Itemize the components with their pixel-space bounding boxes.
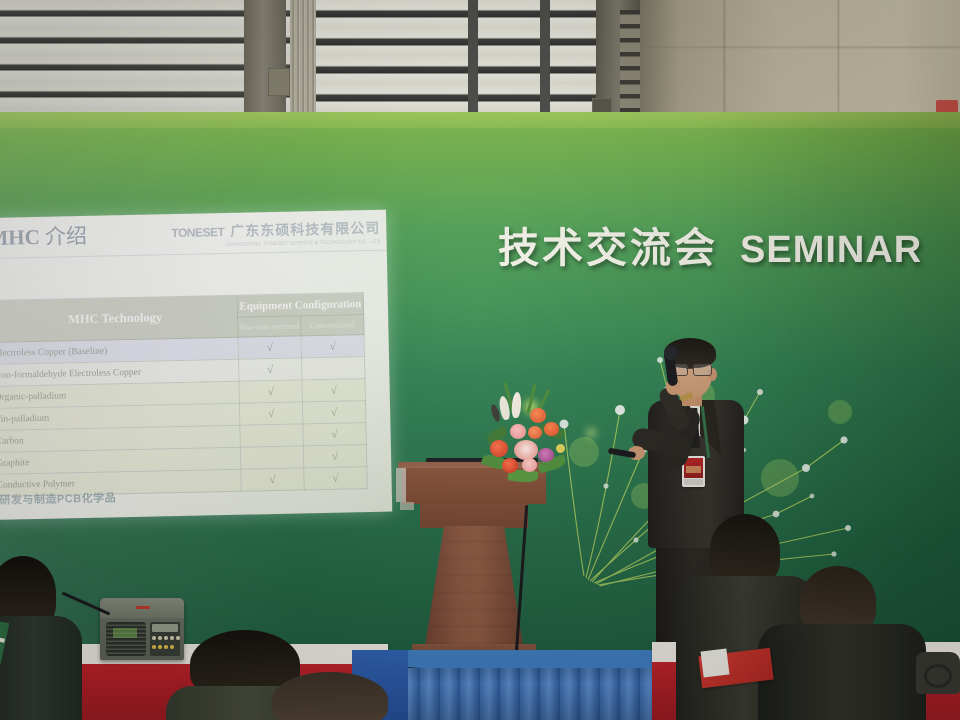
attendee-jacket [0,616,82,720]
wall-mullion [468,0,478,128]
slide-title-cn: 介绍 [45,224,87,249]
orange-rose [530,408,546,423]
projector-button [164,636,168,640]
banner-title-en: SEMINAR [740,229,922,272]
mhc-technology-table: MHC Technology Equipment Configuration N… [0,292,368,497]
cell-non-conveyorized [240,424,303,447]
yellow-accent [556,444,565,453]
podium-side-shelf [400,502,414,510]
pink-carnation [522,458,537,472]
projector-button [164,645,168,649]
cell-non-conveyorized: √ [239,358,302,381]
projector-brand-mark [136,606,150,609]
cell-non-conveyorized [240,446,303,469]
cell-conveyorized: √ [303,423,366,446]
cell-non-conveyorized: √ [238,336,301,359]
vent-slots [620,10,642,120]
wall-box-fixture [268,68,290,96]
projector [100,598,184,660]
projector-vent-grille [106,622,146,656]
attendee-hair [272,672,388,720]
attendee-jacket [758,624,926,720]
logo-wordmark: TONESET [171,225,224,240]
exhibition-hall-ceiling [0,0,960,128]
floral-arrangement [478,382,578,486]
projector-button [170,636,174,640]
cell-conveyorized: √ [301,335,364,358]
projector-button [152,645,156,649]
structural-column [244,0,286,128]
attendee-center-front [272,672,392,720]
slide-title-en: MHC [0,225,40,250]
col-header-non-conveyorized: Non-conveyorized [238,316,301,337]
projector-port [152,624,178,632]
slide-footer: 业研发与制造PCB化学品 [0,489,116,508]
cell-non-conveyorized: √ [241,468,304,491]
purple-orchid [538,448,554,462]
badge-name-strip [684,479,703,485]
projected-slide: MHC 介绍 TONESET 广东东硕科技有限公司 GUANGDONG TONE… [0,210,392,520]
col-header-equipment-configuration: Equipment Configuration [237,293,363,318]
orange-rose [528,426,542,439]
cell-conveyorized: √ [302,401,365,424]
col-header-conveyorized: Conveyorized [301,315,364,336]
beige-panel-wall [640,0,960,128]
red-gerbera [490,440,508,457]
podium-side-panel [396,468,406,502]
pink-carnation [510,424,526,439]
seminar-photo: MHC 介绍 TONESET 广东东硕科技有限公司 GUANGDONG TONE… [0,0,960,720]
cell-conveyorized: √ [302,379,365,402]
red-gerbera [502,458,518,473]
wall-mullion [540,0,550,128]
white-lily-bud [511,392,522,419]
cell-conveyorized: √ [303,445,366,468]
microphone-head [664,346,678,360]
slide-header: MHC 介绍 TONESET 广东东硕科技有限公司 GUANGDONG TONE… [0,212,387,254]
orange-rose [544,422,559,436]
projector-button [158,645,162,649]
cell-conveyorized: √ [304,467,367,490]
projector-button [170,645,174,649]
folder-papers [701,649,730,678]
projector-button [158,636,162,640]
badge-artwork [684,458,703,478]
slide-title: MHC 介绍 [0,220,87,252]
bag-strap [924,664,952,688]
pink-lily [514,440,538,460]
pipe-cluster [290,0,316,128]
col-header-mhc-technology: MHC Technology [0,295,238,342]
logo-company-cn: 广东东硕科技有限公司 [230,218,380,241]
lens-right [693,364,712,376]
company-logo: TONESET 广东东硕科技有限公司 GUANGDONG TONESET SCI… [171,218,380,249]
banner-title-cn: 技术交流会 [498,214,718,274]
bokeh-light [586,428,596,438]
cell-conveyorized [301,357,364,380]
podium-neck [420,504,528,528]
attendee-left-front [0,556,100,720]
banner-seminar-title: 技术交流会 SEMINAR [498,214,922,274]
projector-button [152,636,156,640]
glasses-bridge [686,368,693,369]
cell-non-conveyorized: √ [239,380,302,403]
attendee-right-front [782,566,922,720]
cell-non-conveyorized: √ [239,402,302,425]
projector-button-row [152,645,174,649]
